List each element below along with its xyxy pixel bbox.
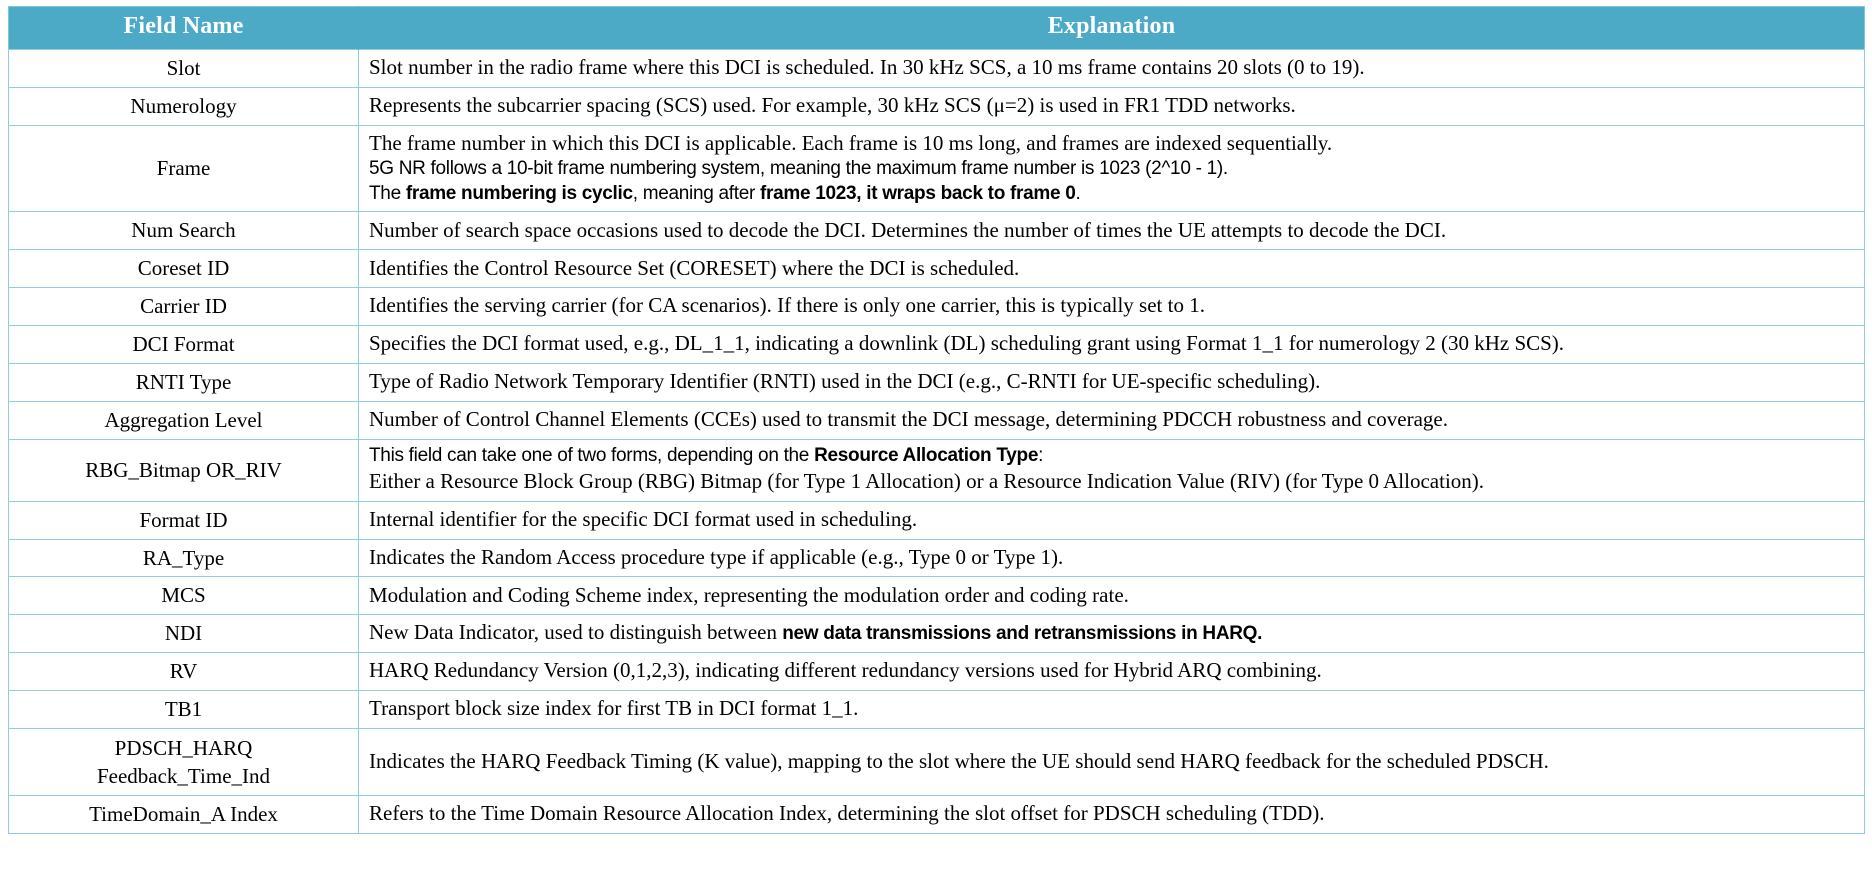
explanation-cell: Transport block size index for first TB … [359,691,1865,729]
field-name-cell: Aggregation Level [9,401,359,439]
table-row: RVHARQ Redundancy Version (0,1,2,3), ind… [9,653,1865,691]
explanation-line: Either a Resource Block Group (RBG) Bitm… [369,468,1856,495]
table-row: RNTI TypeType of Radio Network Temporary… [9,363,1865,401]
explanation-line: HARQ Redundancy Version (0,1,2,3), indic… [369,657,1856,684]
explanation-cell: Identifies the serving carrier (for CA s… [359,288,1865,326]
field-name-cell: Carrier ID [9,288,359,326]
field-name-cell: RA_Type [9,539,359,577]
explanation-cell: Indicates the Random Access procedure ty… [359,539,1865,577]
plain-text: . [1076,183,1081,204]
table-row: Format IDInternal identifier for the spe… [9,501,1865,539]
table-row: RA_TypeIndicates the Random Access proce… [9,539,1865,577]
explanation-line: Modulation and Coding Scheme index, repr… [369,582,1856,609]
explanation-cell: HARQ Redundancy Version (0,1,2,3), indic… [359,653,1865,691]
explanation-cell: This field can take one of two forms, de… [359,439,1865,501]
explanation-cell: Number of Control Channel Elements (CCEs… [359,401,1865,439]
field-name-cell: Coreset ID [9,250,359,288]
explanation-cell: Type of Radio Network Temporary Identifi… [359,363,1865,401]
field-name-cell: TB1 [9,691,359,729]
emphasis-text: new data transmissions and retransmissio… [782,623,1262,644]
explanation-line: 5G NR follows a 10-bit frame numbering s… [369,157,1856,182]
table-row: TimeDomain_A IndexRefers to the Time Dom… [9,796,1865,834]
explanation-line: Refers to the Time Domain Resource Alloc… [369,800,1856,827]
explanation-line: Type of Radio Network Temporary Identifi… [369,368,1856,395]
field-name-line: Feedback_Time_Ind [15,762,352,790]
table-row: Num SearchNumber of search space occasio… [9,212,1865,250]
column-header-explanation: Explanation [359,7,1865,50]
table-header: Field Name Explanation [9,7,1865,50]
table-row: PDSCH_HARQFeedback_Time_IndIndicates the… [9,728,1865,795]
field-name-cell: Frame [9,125,359,212]
plain-text: : [1038,445,1043,466]
field-name-cell: RV [9,653,359,691]
explanation-cell: Internal identifier for the specific DCI… [359,501,1865,539]
explanation-line: Slot number in the radio frame where thi… [369,54,1856,81]
field-name-cell: DCI Format [9,326,359,364]
explanation-line: This field can take one of two forms, de… [369,444,1856,469]
field-name-cell: Numerology [9,87,359,125]
emphasis-text: frame 1023, it wraps back to frame 0 [760,183,1076,204]
plain-text: The [369,183,406,204]
table-row: TB1Transport block size index for first … [9,691,1865,729]
field-name-cell: Num Search [9,212,359,250]
explanation-line: Number of search space occasions used to… [369,217,1856,244]
explanation-line: Represents the subcarrier spacing (SCS) … [369,92,1856,119]
explanation-line: The frame numbering is cyclic, meaning a… [369,182,1856,207]
field-name-cell: Slot [9,50,359,88]
explanation-cell: New Data Indicator, used to distinguish … [359,615,1865,653]
table-body: SlotSlot number in the radio frame where… [9,50,1865,834]
table-header-row: Field Name Explanation [9,7,1865,50]
field-name-cell: MCS [9,577,359,615]
field-name-cell: RNTI Type [9,363,359,401]
plain-text: , meaning after [633,183,760,204]
explanation-cell: Identifies the Control Resource Set (COR… [359,250,1865,288]
explanation-cell: Slot number in the radio frame where thi… [359,50,1865,88]
explanation-line: Number of Control Channel Elements (CCEs… [369,406,1856,433]
dci-field-table-container: Field Name Explanation SlotSlot number i… [0,0,1872,842]
field-name-cell: RBG_Bitmap OR_RIV [9,439,359,501]
emphasis-text: Resource Allocation Type [814,445,1038,466]
explanation-line: New Data Indicator, used to distinguish … [369,619,1856,647]
emphasis-text: frame numbering is cyclic [406,183,633,204]
explanation-cell: Refers to the Time Domain Resource Alloc… [359,796,1865,834]
table-row: DCI FormatSpecifies the DCI format used,… [9,326,1865,364]
explanation-cell: Indicates the HARQ Feedback Timing (K va… [359,728,1865,795]
explanation-cell: The frame number in which this DCI is ap… [359,125,1865,212]
table-row: NumerologyRepresents the subcarrier spac… [9,87,1865,125]
field-name-cell: NDI [9,615,359,653]
table-row: Carrier IDIdentifies the serving carrier… [9,288,1865,326]
table-row: RBG_Bitmap OR_RIVThis field can take one… [9,439,1865,501]
table-row: Coreset IDIdentifies the Control Resourc… [9,250,1865,288]
explanation-line: Identifies the serving carrier (for CA s… [369,292,1856,319]
explanation-cell: Specifies the DCI format used, e.g., DL_… [359,326,1865,364]
field-name-cell: Format ID [9,501,359,539]
plain-text: This field can take one of two forms, de… [369,445,814,466]
table-row: NDINew Data Indicator, used to distingui… [9,615,1865,653]
explanation-line: Transport block size index for first TB … [369,695,1856,722]
field-name-cell: TimeDomain_A Index [9,796,359,834]
table-row: SlotSlot number in the radio frame where… [9,50,1865,88]
explanation-line: Internal identifier for the specific DCI… [369,506,1856,533]
plain-text: New Data Indicator, used to distinguish … [369,620,782,644]
explanation-cell: Number of search space occasions used to… [359,212,1865,250]
explanation-line: The frame number in which this DCI is ap… [369,130,1856,157]
field-name-line: PDSCH_HARQ [15,734,352,762]
explanation-line: Identifies the Control Resource Set (COR… [369,255,1856,282]
column-header-field-name: Field Name [9,7,359,50]
dci-field-table: Field Name Explanation SlotSlot number i… [8,6,1865,834]
explanation-cell: Modulation and Coding Scheme index, repr… [359,577,1865,615]
explanation-line: Indicates the Random Access procedure ty… [369,544,1856,571]
table-row: FrameThe frame number in which this DCI … [9,125,1865,212]
field-name-cell: PDSCH_HARQFeedback_Time_Ind [9,728,359,795]
explanation-cell: Represents the subcarrier spacing (SCS) … [359,87,1865,125]
explanation-line: Indicates the HARQ Feedback Timing (K va… [369,748,1856,775]
explanation-line: Specifies the DCI format used, e.g., DL_… [369,330,1856,357]
table-row: MCSModulation and Coding Scheme index, r… [9,577,1865,615]
table-row: Aggregation LevelNumber of Control Chann… [9,401,1865,439]
